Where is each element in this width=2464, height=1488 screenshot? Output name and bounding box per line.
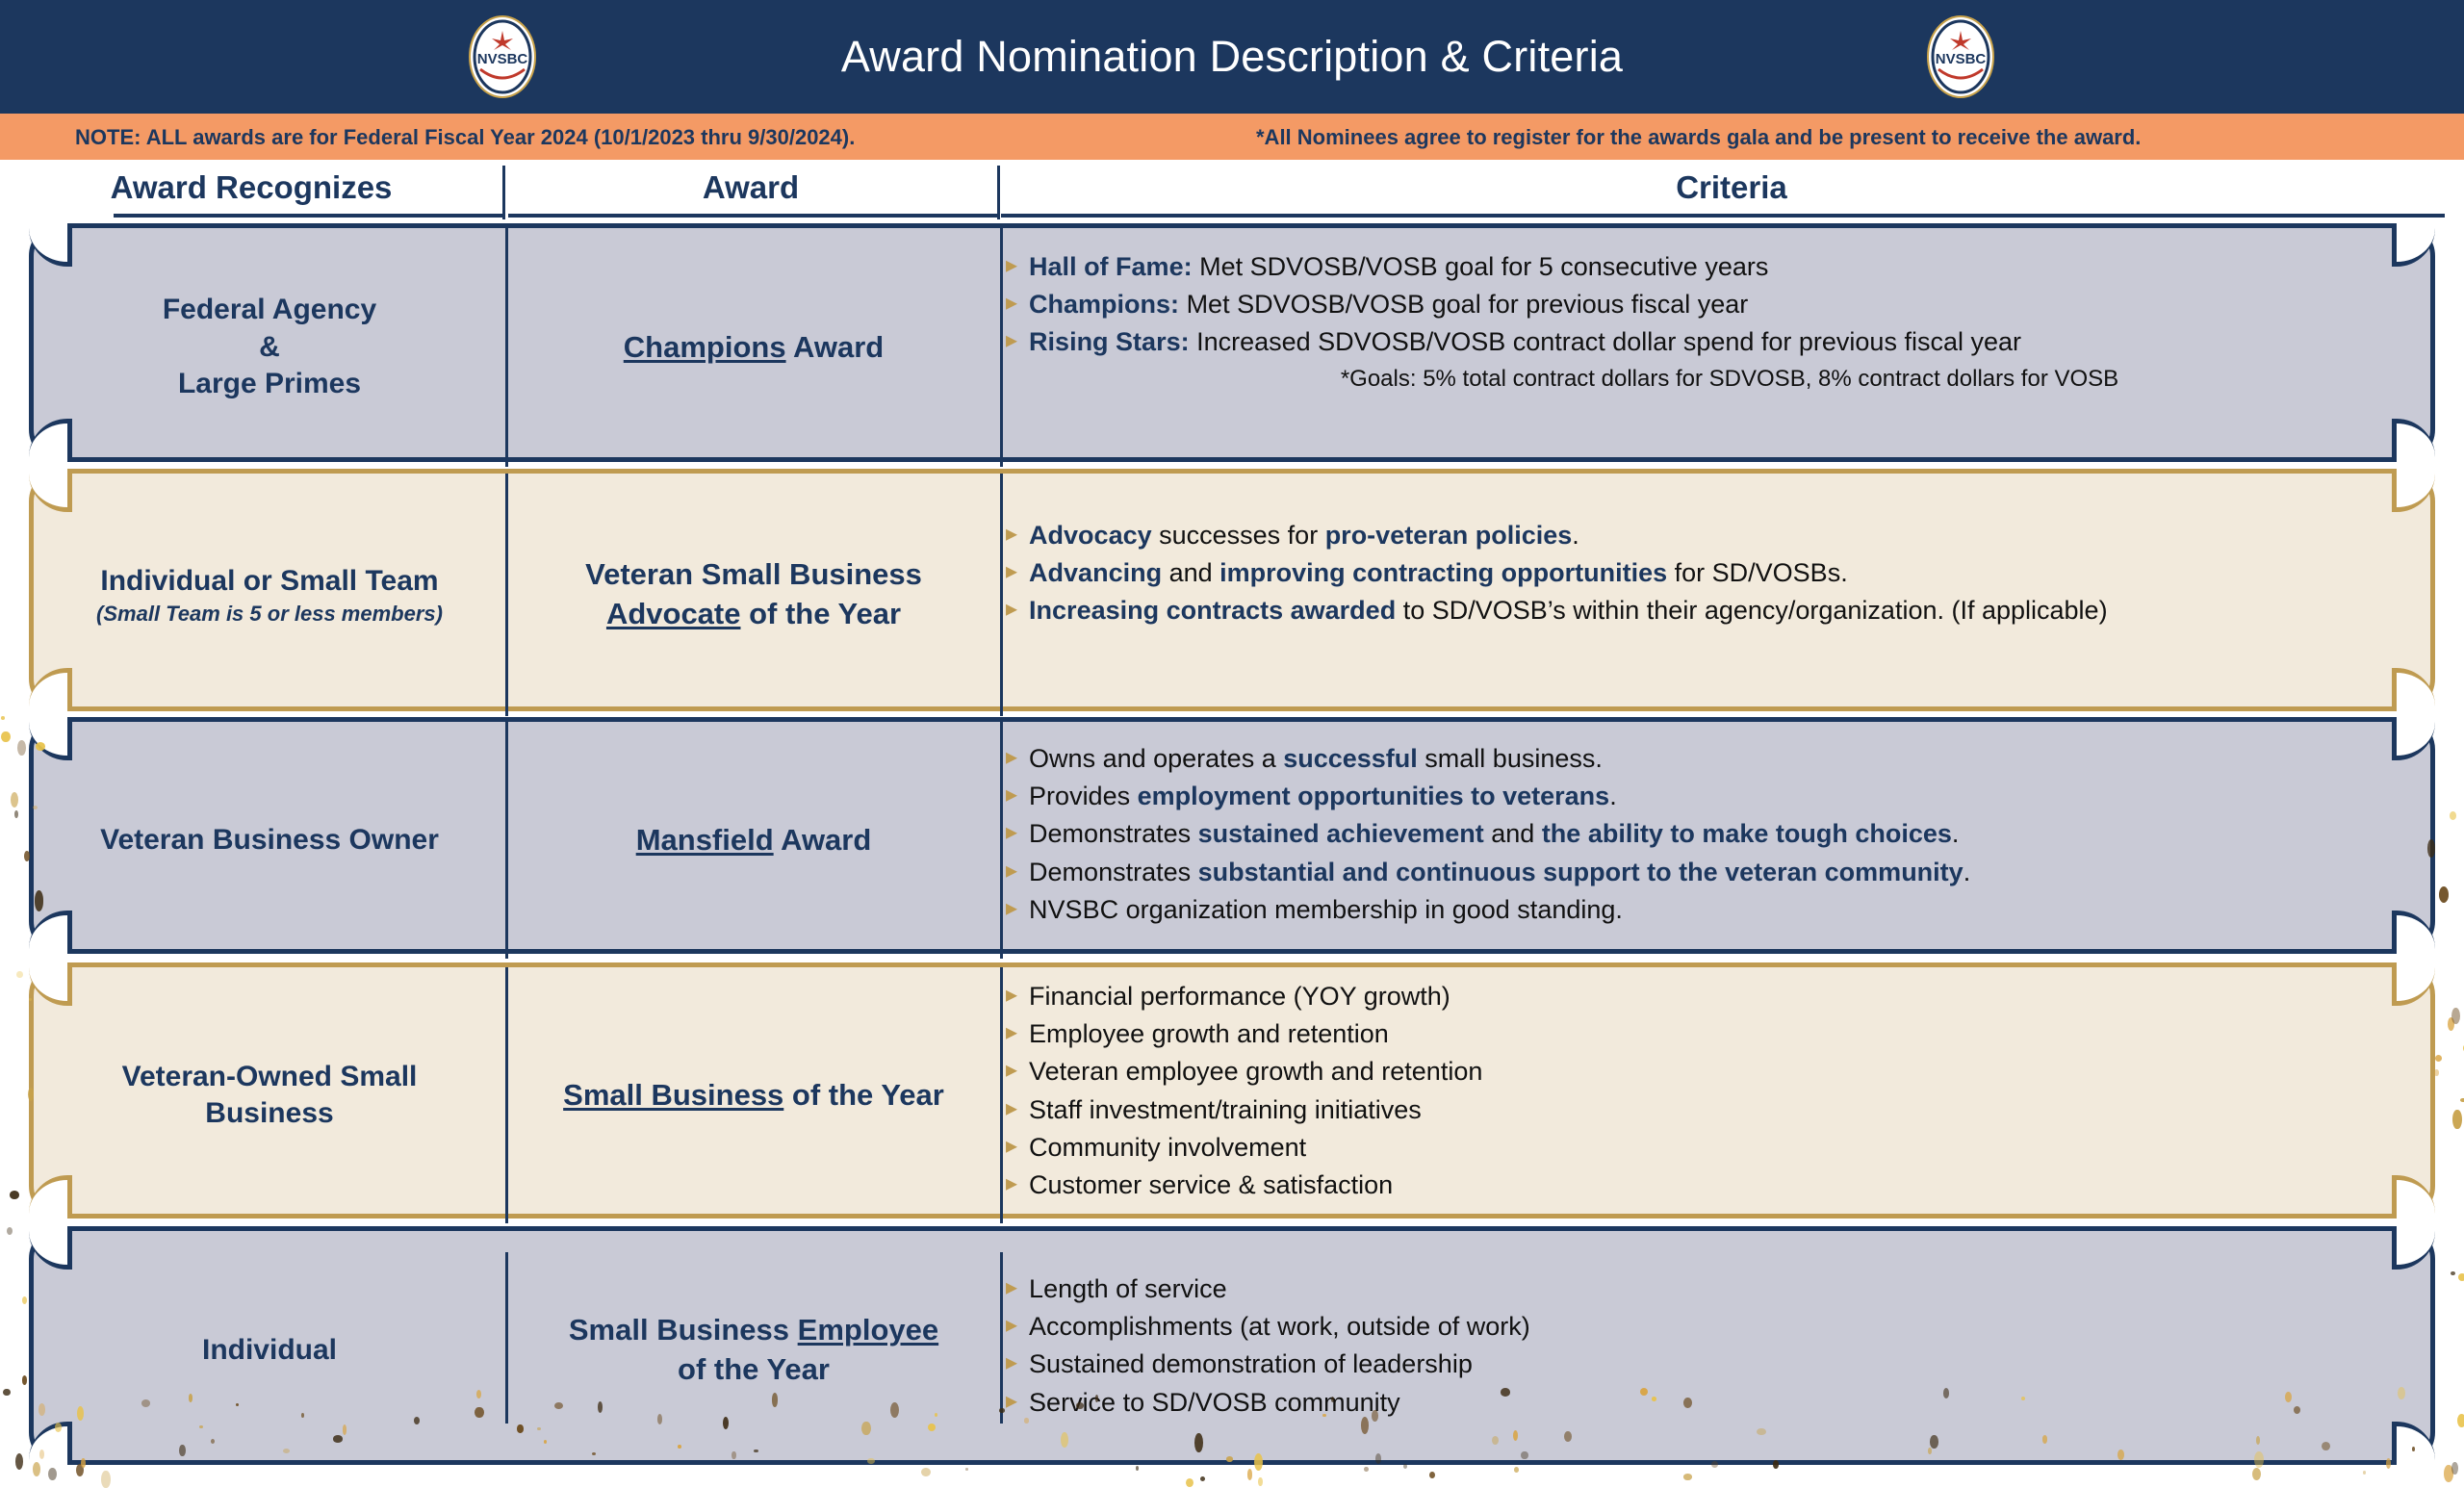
criteria-text: Provides employment opportunities to vet… bbox=[1029, 779, 1617, 813]
criteria-item: ▸Increasing contracts awarded to SD/VOSB… bbox=[1006, 593, 2415, 628]
cell-award-recognizes-advocate: Individual or Small Team(Small Team is 5… bbox=[34, 474, 505, 716]
confetti-dot bbox=[14, 810, 18, 818]
triangle-bullet-icon: ▸ bbox=[1006, 1309, 1017, 1343]
corner-notch-br bbox=[2392, 419, 2435, 462]
cell-award-name-advocate: Veteran Small BusinessAdvocate of the Ye… bbox=[509, 474, 998, 716]
svg-text:NVSBC: NVSBC bbox=[477, 51, 528, 67]
divider-recognizes-award bbox=[505, 474, 508, 716]
confetti-dot bbox=[2460, 1098, 2464, 1103]
criteria-item: ▸Staff investment/training initiatives bbox=[1006, 1092, 2415, 1127]
confetti-dot bbox=[2444, 1465, 2452, 1482]
confetti-dot bbox=[1, 716, 5, 720]
criteria-text: Employee growth and retention bbox=[1029, 1016, 1389, 1051]
divider-award-criteria bbox=[1000, 228, 1003, 467]
criteria-text: Customer service & satisfaction bbox=[1029, 1167, 1393, 1202]
confetti-dot bbox=[1, 731, 10, 742]
confetti-dot bbox=[2457, 1414, 2464, 1427]
criteria-item: ▸Hall of Fame: Met SDVOSB/VOSB goal for … bbox=[1006, 249, 2415, 284]
triangle-bullet-icon: ▸ bbox=[1006, 779, 1017, 812]
criteria-item: ▸Champions: Met SDVOSB/VOSB goal for pre… bbox=[1006, 287, 2415, 321]
column-header-award-recognizes: Award Recognizes bbox=[0, 169, 502, 206]
triangle-bullet-icon: ▸ bbox=[1006, 1347, 1017, 1380]
confetti-dot bbox=[2363, 1471, 2366, 1475]
cell-criteria-mansfield: ▸Owns and operates a successful small bu… bbox=[1006, 741, 2415, 930]
triangle-bullet-icon: ▸ bbox=[1006, 1054, 1017, 1088]
criteria-text: Champions: Met SDVOSB/VOSB goal for prev… bbox=[1029, 287, 1748, 321]
confetti-dot bbox=[2452, 1110, 2461, 1129]
confetti-dot bbox=[17, 740, 26, 755]
cell-award-recognizes-small-business: Veteran-Owned SmallBusiness bbox=[34, 967, 505, 1223]
cell-criteria-small-business: ▸Financial performance (YOY growth)▸Empl… bbox=[1006, 979, 2415, 1205]
column-header-award: Award bbox=[504, 169, 997, 206]
award-row-advocate: Individual or Small Team(Small Team is 5… bbox=[29, 469, 2435, 711]
triangle-bullet-icon: ▸ bbox=[1006, 1167, 1017, 1201]
criteria-text: Financial performance (YOY growth) bbox=[1029, 979, 1450, 1013]
notice-fiscal-year: NOTE: ALL awards are for Federal Fiscal … bbox=[75, 125, 855, 150]
confetti-dot bbox=[16, 971, 23, 978]
criteria-item: ▸NVSBC organization membership in good s… bbox=[1006, 892, 2415, 927]
confetti-dot bbox=[3, 1389, 11, 1397]
criteria-text: Service to SD/VOSB community bbox=[1029, 1385, 1400, 1420]
award-title: Mansfield Award bbox=[636, 821, 872, 860]
criteria-text: Community involvement bbox=[1029, 1130, 1306, 1165]
triangle-bullet-icon: ▸ bbox=[1006, 979, 1017, 1013]
criteria-text: Length of service bbox=[1029, 1271, 1227, 1306]
divider-recognizes-award bbox=[505, 967, 508, 1223]
divider-award-criteria bbox=[1000, 474, 1003, 716]
confetti-dot bbox=[11, 792, 18, 808]
recognizes-subnote: (Small Team is 5 or less members) bbox=[96, 602, 443, 627]
criteria-text: Rising Stars: Increased SDVOSB/VOSB cont… bbox=[1029, 324, 2021, 359]
criteria-item: ▸Length of service bbox=[1006, 1271, 2415, 1306]
confetti-dot bbox=[1258, 1477, 1262, 1487]
criteria-item: ▸Provides employment opportunities to ve… bbox=[1006, 779, 2415, 813]
criteria-item: ▸Sustained demonstration of leadership bbox=[1006, 1347, 2415, 1381]
recognizes-label: Veteran Business Owner bbox=[100, 822, 439, 859]
triangle-bullet-icon: ▸ bbox=[1006, 593, 1017, 627]
cell-criteria-champions: ▸Hall of Fame: Met SDVOSB/VOSB goal for … bbox=[1006, 249, 2415, 393]
criteria-item: ▸Employee growth and retention bbox=[1006, 1016, 2415, 1051]
award-row-mansfield: Veteran Business OwnerMansfield Award▸Ow… bbox=[29, 717, 2435, 954]
triangle-bullet-icon: ▸ bbox=[1006, 555, 1017, 589]
award-row-champions: Federal Agency&Large PrimesChampions Awa… bbox=[29, 223, 2435, 462]
divider-award-criteria bbox=[1000, 967, 1003, 1223]
triangle-bullet-icon: ▸ bbox=[1006, 1130, 1017, 1164]
criteria-item: ▸Demonstrates substantial and continuous… bbox=[1006, 855, 2415, 889]
cell-award-recognizes-champions: Federal Agency&Large Primes bbox=[34, 228, 505, 467]
triangle-bullet-icon: ▸ bbox=[1006, 1271, 1017, 1305]
criteria-footnote: *Goals: 5% total contract dollars for SD… bbox=[1006, 366, 2415, 393]
criteria-item: ▸Owns and operates a successful small bu… bbox=[1006, 741, 2415, 776]
award-row-small-business: Veteran-Owned SmallBusinessSmall Busines… bbox=[29, 962, 2435, 1219]
column-header-criteria: Criteria bbox=[999, 169, 2464, 206]
confetti-dot bbox=[1200, 1476, 1206, 1481]
triangle-bullet-icon: ▸ bbox=[1006, 1016, 1017, 1050]
cell-award-name-employee: Small Business Employeeof the Year bbox=[509, 1231, 998, 1470]
corner-notch-br bbox=[2392, 668, 2435, 711]
recognizes-label: Individual or Small Team bbox=[100, 563, 438, 600]
header-rule-2 bbox=[508, 214, 997, 218]
award-row-employee: IndividualSmall Business Employeeof the … bbox=[29, 1226, 2435, 1465]
notice-gala-attendance: *All Nominees agree to register for the … bbox=[1256, 125, 2141, 150]
header-divider-1 bbox=[502, 166, 505, 219]
award-title: Small Business of the Year bbox=[563, 1076, 944, 1116]
divider-award-criteria bbox=[1000, 1252, 1003, 1424]
criteria-item: ▸Service to SD/VOSB community bbox=[1006, 1385, 2415, 1420]
award-title: Veteran Small BusinessAdvocate of the Ye… bbox=[585, 555, 922, 634]
criteria-text: Staff investment/training initiatives bbox=[1029, 1092, 1422, 1127]
triangle-bullet-icon: ▸ bbox=[1006, 855, 1017, 888]
confetti-dot bbox=[2451, 1462, 2457, 1475]
criteria-text: Accomplishments (at work, outside of wor… bbox=[1029, 1309, 1530, 1344]
confetti-dot bbox=[101, 1471, 111, 1488]
criteria-item: ▸Accomplishments (at work, outside of wo… bbox=[1006, 1309, 2415, 1344]
confetti-dot bbox=[1364, 1467, 1369, 1473]
confetti-dot bbox=[1247, 1469, 1253, 1480]
criteria-text: Hall of Fame: Met SDVOSB/VOSB goal for 5… bbox=[1029, 249, 1768, 284]
criteria-text: Advancing and improving contracting oppo… bbox=[1029, 555, 1848, 590]
criteria-text: Advocacy successes for pro-veteran polic… bbox=[1029, 518, 1579, 552]
confetti-dot bbox=[1136, 1466, 1139, 1471]
criteria-item: ▸Advancing and improving contracting opp… bbox=[1006, 555, 2415, 590]
triangle-bullet-icon: ▸ bbox=[1006, 518, 1017, 552]
confetti-dot bbox=[1429, 1472, 1435, 1479]
criteria-item: ▸Rising Stars: Increased SDVOSB/VOSB con… bbox=[1006, 324, 2415, 359]
cell-award-recognizes-mansfield: Veteran Business Owner bbox=[34, 722, 505, 959]
confetti-dot bbox=[1403, 1464, 1407, 1469]
award-title: Champions Award bbox=[624, 328, 884, 368]
award-title: Small Business Employeeof the Year bbox=[569, 1311, 938, 1390]
triangle-bullet-icon: ▸ bbox=[1006, 816, 1017, 850]
page-title: Award Nomination Description & Criteria bbox=[841, 32, 1623, 82]
confetti-dot bbox=[2451, 1008, 2460, 1025]
criteria-text: Sustained demonstration of leadership bbox=[1029, 1347, 1473, 1381]
confetti-dot bbox=[48, 1468, 57, 1480]
divider-recognizes-award bbox=[505, 722, 508, 959]
corner-notch-tr bbox=[2392, 1226, 2435, 1270]
cell-award-name-small-business: Small Business of the Year bbox=[509, 967, 998, 1223]
criteria-text: NVSBC organization membership in good st… bbox=[1029, 892, 1623, 927]
criteria-text: Veteran employee growth and retention bbox=[1029, 1054, 1482, 1089]
recognizes-label: Veteran-Owned SmallBusiness bbox=[122, 1059, 418, 1133]
triangle-bullet-icon: ▸ bbox=[1006, 1092, 1017, 1126]
criteria-item: ▸Advocacy successes for pro-veteran poli… bbox=[1006, 518, 2415, 552]
cell-award-name-champions: Champions Award bbox=[509, 228, 998, 467]
criteria-text: Demonstrates substantial and continuous … bbox=[1029, 855, 1970, 889]
confetti-dot bbox=[15, 1453, 24, 1471]
cell-award-recognizes-employee: Individual bbox=[34, 1231, 505, 1470]
confetti-dot bbox=[2252, 1468, 2261, 1480]
triangle-bullet-icon: ▸ bbox=[1006, 892, 1017, 926]
header-rule-1 bbox=[114, 214, 502, 218]
triangle-bullet-icon: ▸ bbox=[1006, 287, 1017, 321]
criteria-item: ▸Demonstrates sustained achievement and … bbox=[1006, 816, 2415, 851]
header-divider-2 bbox=[997, 166, 1000, 219]
confetti-dot bbox=[1683, 1474, 1692, 1479]
confetti-dot bbox=[2448, 1017, 2454, 1031]
confetti-dot bbox=[2451, 1271, 2455, 1275]
corner-notch-br bbox=[2392, 1422, 2435, 1465]
divider-recognizes-award bbox=[505, 228, 508, 467]
nvsbc-logo-icon-left: NVSBC bbox=[467, 15, 538, 98]
confetti-dot bbox=[2435, 1055, 2442, 1062]
recognizes-label: Individual bbox=[202, 1332, 337, 1369]
confetti-dot bbox=[1514, 1467, 1519, 1473]
criteria-item: ▸Customer service & satisfaction bbox=[1006, 1167, 2415, 1202]
cell-criteria-employee: ▸Length of service▸Accomplishments (at w… bbox=[1006, 1271, 2415, 1423]
cell-award-name-mansfield: Mansfield Award bbox=[509, 722, 998, 959]
criteria-text: Demonstrates sustained achievement and t… bbox=[1029, 816, 1959, 851]
triangle-bullet-icon: ▸ bbox=[1006, 324, 1017, 358]
confetti-dot bbox=[2458, 1273, 2464, 1281]
nvsbc-logo-icon-right: NVSBC bbox=[1925, 15, 1996, 98]
column-headers: Award Recognizes Award Criteria bbox=[0, 160, 2464, 221]
divider-recognizes-award bbox=[505, 1252, 508, 1424]
notice-bar: NOTE: ALL awards are for Federal Fiscal … bbox=[0, 114, 2464, 160]
confetti-dot bbox=[22, 1375, 27, 1385]
confetti-dot bbox=[7, 1227, 13, 1235]
triangle-bullet-icon: ▸ bbox=[1006, 1385, 1017, 1419]
criteria-item: ▸Financial performance (YOY growth) bbox=[1006, 979, 2415, 1013]
criteria-text: Increasing contracts awarded to SD/VOSB’… bbox=[1029, 593, 2108, 628]
confetti-dot bbox=[22, 1296, 27, 1304]
svg-text:NVSBC: NVSBC bbox=[1936, 51, 1987, 67]
triangle-bullet-icon: ▸ bbox=[1006, 249, 1017, 283]
confetti-dot bbox=[10, 1191, 19, 1199]
confetti-dot bbox=[2450, 811, 2456, 819]
triangle-bullet-icon: ▸ bbox=[1006, 741, 1017, 775]
header-rule-3 bbox=[1001, 214, 2445, 218]
corner-notch-tr bbox=[2392, 469, 2435, 512]
recognizes-label: Federal Agency&Large Primes bbox=[163, 292, 376, 402]
divider-award-criteria bbox=[1000, 722, 1003, 959]
confetti-dot bbox=[2439, 886, 2449, 903]
cell-criteria-advocate: ▸Advocacy successes for pro-veteran poli… bbox=[1006, 518, 2415, 631]
confetti-dot bbox=[1186, 1478, 1193, 1487]
criteria-item: ▸Community involvement bbox=[1006, 1130, 2415, 1165]
criteria-item: ▸Veteran employee growth and retention bbox=[1006, 1054, 2415, 1089]
page-header: Award Nomination Description & Criteria bbox=[0, 0, 2464, 114]
criteria-text: Owns and operates a successful small bus… bbox=[1029, 741, 1603, 776]
